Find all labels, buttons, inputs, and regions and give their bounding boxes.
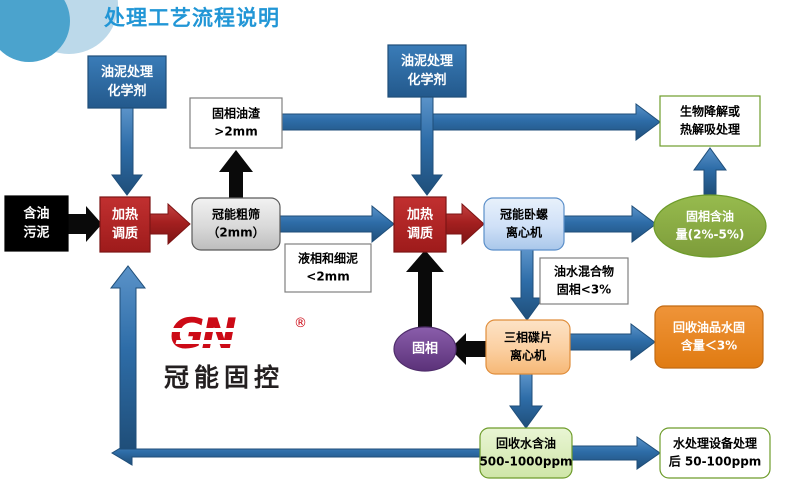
gn-coarse-screen-label-1: （2mm） <box>207 225 264 240</box>
arrow-heat1-to-screen <box>150 204 190 244</box>
three-phase-disc-centrifuge[interactable]: 三相碟片离心机 <box>486 320 570 374</box>
arrow-screen-to-residue <box>219 150 253 198</box>
water-treatment-result-box-label-0: 水处理设备处理 <box>673 436 757 451</box>
arrow-screen-to-heat2 <box>280 206 394 242</box>
oily-sludge-box-shape <box>5 196 68 251</box>
sludge-chemical-agent-2-label-1: 化学剂 <box>407 72 446 88</box>
logo-gn-text: GN <box>170 312 234 356</box>
recovered-oil-water-solid-box-shape <box>655 306 763 368</box>
solid-phase-oil-residue-box-label-0: 固相油渣 <box>212 106 261 121</box>
arrow-tricanter-to-recovered-oil <box>570 324 655 360</box>
recovered-oil-water-solid-box[interactable]: 回收油品水固含量＜3% <box>655 306 763 368</box>
heating-conditioning-2-label-1: 调质 <box>407 226 433 242</box>
arrow-sludge-to-heat1 <box>68 206 102 242</box>
three-phase-disc-centrifuge-label-0: 三相碟片 <box>504 330 552 345</box>
solid-phase-oil-residue-box-label-1: >2mm <box>214 125 257 139</box>
arrow-chem2-to-heat2 <box>412 97 442 195</box>
oily-sludge-box[interactable]: 含油污泥 <box>5 196 68 251</box>
process-flow-diagram: 含油污泥油泥处理化学剂加热调质冠能粗筛（2mm）固相油渣>2mm液相和细泥<2m… <box>0 0 800 489</box>
solid-phase-oil-residue-box-shape <box>190 98 282 148</box>
bio-degradation-or-pyrolysis-box-label-1: 热解吸处理 <box>680 122 740 137</box>
gn-company-logo: GN ® 冠能固控 <box>162 316 330 394</box>
solid-phase-oil-content-ellipse-shape <box>654 195 766 257</box>
bio-degradation-or-pyrolysis-box-shape <box>660 96 760 146</box>
oil-water-mixture-box-label-0: 油水混合物 <box>554 264 614 279</box>
heating-conditioning-2-shape <box>394 197 446 252</box>
recovered-water-oil-content-box-label-0: 回收水含油 <box>496 436 556 451</box>
solid-phase-oil-content-ellipse[interactable]: 固相含油量(2%-5%) <box>654 195 766 257</box>
arrow-decanter-to-solidoil <box>564 206 656 242</box>
oil-water-mixture-box[interactable]: 油水混合物固相<3% <box>540 258 628 304</box>
logo-mark: GN ® <box>162 316 330 360</box>
bio-degradation-or-pyrolysis-box[interactable]: 生物降解或热解吸处理 <box>660 96 760 146</box>
sludge-chemical-agent-1-label-0: 油泥处理 <box>101 64 153 80</box>
heating-conditioning-1-label-1: 调质 <box>112 226 138 242</box>
recovered-oil-water-solid-box-label-1: 含量＜3% <box>681 338 737 353</box>
sludge-chemical-agent-1-label-1: 化学剂 <box>107 83 146 99</box>
flowchart-page: 处理工艺流程说明 <box>0 0 800 489</box>
recovered-water-oil-content-box-shape <box>480 428 572 478</box>
arrow-decanter-to-tricanter <box>511 250 543 320</box>
recovered-oil-water-solid-box-label-0: 回收油品水固 <box>673 320 745 335</box>
sludge-chemical-agent-2-shape <box>388 45 466 97</box>
gn-decanter-centrifuge[interactable]: 冠能卧螺离心机 <box>484 198 564 250</box>
logo-company-name: 冠能固控 <box>164 358 284 394</box>
oily-sludge-box-label-1: 污泥 <box>23 225 49 241</box>
logo-registered-mark: ® <box>294 316 307 331</box>
sludge-chemical-agent-1[interactable]: 油泥处理化学剂 <box>88 56 166 108</box>
heating-conditioning-1[interactable]: 加热调质 <box>100 197 150 252</box>
arrow-chem1-to-heat1 <box>112 108 142 195</box>
gn-decanter-centrifuge-label-1: 离心机 <box>506 225 542 240</box>
oily-sludge-box-label-0: 含油 <box>22 206 49 222</box>
solid-phase-oil-content-ellipse-label-0: 固相含油 <box>686 209 734 224</box>
gn-coarse-screen[interactable]: 冠能粗筛（2mm） <box>192 198 280 250</box>
oil-water-mixture-box-label-1: 固相<3% <box>557 282 611 297</box>
liquid-and-fine-mud-box-label-1: <2mm <box>306 270 349 284</box>
water-treatment-result-box[interactable]: 水处理设备处理后 50-100ppm <box>660 428 770 478</box>
solid-phase-ellipse-label-0: 固相 <box>412 341 438 357</box>
recovered-water-oil-content-box[interactable]: 回收水含油500-1000ppm <box>479 428 572 478</box>
three-phase-disc-centrifuge-label-1: 离心机 <box>510 348 546 363</box>
sludge-chemical-agent-2[interactable]: 油泥处理化学剂 <box>388 45 466 97</box>
bio-degradation-or-pyrolysis-box-label-0: 生物降解或 <box>680 104 740 119</box>
arrow-residue-to-biodegrade <box>282 104 660 140</box>
arrow-heat2-to-decanter <box>446 204 484 244</box>
gn-decanter-centrifuge-shape <box>484 198 564 250</box>
sludge-chemical-agent-2-label-0: 油泥处理 <box>401 53 453 69</box>
water-treatment-result-box-shape <box>660 428 770 478</box>
heating-conditioning-1-label-0: 加热 <box>111 207 138 223</box>
sludge-chemical-agent-1-shape <box>88 56 166 108</box>
recovered-water-oil-content-box-label-1: 500-1000ppm <box>479 455 572 469</box>
water-treatment-result-box-label-1: 后 50-100ppm <box>669 454 762 469</box>
arrow-tricanter-to-recovered-water <box>510 374 542 428</box>
heating-conditioning-2[interactable]: 加热调质 <box>394 197 446 252</box>
arrow-recwater-to-treated <box>572 437 660 469</box>
gn-decanter-centrifuge-label-0: 冠能卧螺 <box>500 207 548 222</box>
arrow-solidoil-to-biodegrade <box>694 148 726 194</box>
solid-phase-ellipse[interactable]: 固相 <box>394 327 456 371</box>
solid-phase-oil-residue-box[interactable]: 固相油渣>2mm <box>190 98 282 148</box>
heating-conditioning-1-shape <box>100 197 150 252</box>
three-phase-disc-centrifuge-shape <box>486 320 570 374</box>
heating-conditioning-2-label-0: 加热 <box>406 207 433 223</box>
gn-coarse-screen-label-0: 冠能粗筛 <box>212 207 260 222</box>
solid-phase-oil-content-ellipse-label-1: 量(2%-5%) <box>676 228 745 242</box>
liquid-and-fine-mud-box-label-0: 液相和细泥 <box>298 251 358 266</box>
liquid-and-fine-mud-box[interactable]: 液相和细泥<2mm <box>285 244 371 292</box>
gn-coarse-screen-shape <box>192 198 280 250</box>
